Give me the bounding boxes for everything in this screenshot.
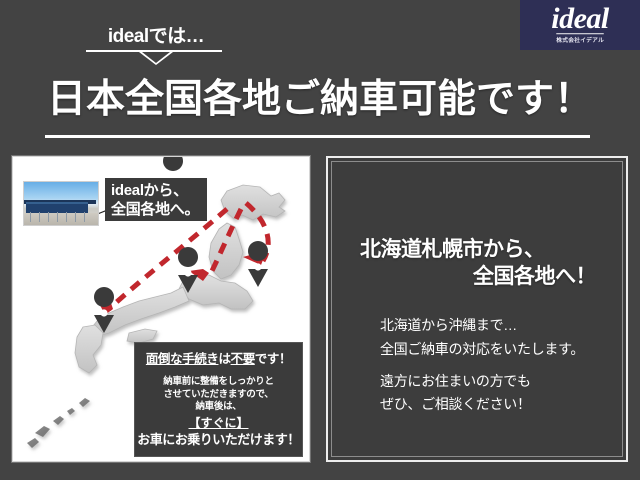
kicker-text: idealでは…	[86, 26, 226, 48]
info-title-part4: です！	[255, 352, 291, 366]
map-caption: idealから、 全国各地へ。	[105, 178, 207, 223]
logo-subtext: 株式会社イデアル	[556, 33, 604, 43]
message-panel: 北海道札幌市から、 全国各地へ！ 北海道から沖縄まで… 全国ご納車の対応をいたし…	[326, 156, 628, 462]
info-title-part1: 面倒な手続き	[146, 352, 219, 366]
info-title-part2: は	[218, 352, 230, 366]
page-title: 日本全国各地ご納車可能です！	[0, 78, 640, 122]
info-box-final: お車にお乗りいただけます！	[135, 431, 302, 449]
message-body1-line1: 北海道から沖縄まで…	[380, 313, 584, 337]
message-heading-line1: 北海道札幌市から、	[360, 236, 545, 263]
map-caption-line2: 全国各地へ。	[111, 200, 199, 219]
info-body-line1: 納車前に整備をしっかりと	[135, 376, 302, 389]
info-box-emphasis: 【すぐに】	[135, 415, 302, 431]
info-box-body: 納車前に整備をしっかりと させていただきますので、 納車後は、	[135, 376, 302, 414]
map-panel: idealから、 全国各地へ。 面倒な手続きは不要です！ 納車前に整備をしっかり…	[12, 156, 310, 462]
message-heading-line2: 全国各地へ！	[328, 263, 626, 290]
storefront-photo	[23, 181, 99, 226]
info-box-title: 面倒な手続きは不要です！	[135, 351, 302, 367]
info-body-line3: 納車後は、	[135, 401, 302, 414]
message-body2-line2: ぜひ、ご相談ください！	[380, 393, 531, 416]
message-body-1: 北海道から沖縄まで… 全国ご納車の対応をいたします。	[380, 313, 584, 361]
map-pin-kanto	[248, 241, 268, 287]
headline-divider	[45, 135, 590, 138]
info-body-line2: させていただきますので、	[135, 389, 302, 402]
map-caption-line1: idealから、	[111, 181, 199, 200]
info-title-part3: 不要	[231, 352, 255, 366]
info-box: 面倒な手続きは不要です！ 納車前に整備をしっかりと させていただきますので、 納…	[134, 342, 303, 457]
kicker-block: idealでは…	[86, 26, 226, 65]
message-body1-line2: 全国ご納車の対応をいたします。	[380, 337, 584, 361]
ideal-logo-badge: ideal 株式会社イデアル	[520, 0, 640, 50]
message-body2-line1: 遠方にお住まいの方でも	[380, 370, 531, 393]
message-body-2: 遠方にお住まいの方でも ぜひ、ご相談ください！	[380, 370, 531, 416]
chevron-down-icon	[139, 52, 173, 65]
photo-poles	[30, 212, 92, 222]
logo-wordmark: ideal	[551, 5, 609, 33]
